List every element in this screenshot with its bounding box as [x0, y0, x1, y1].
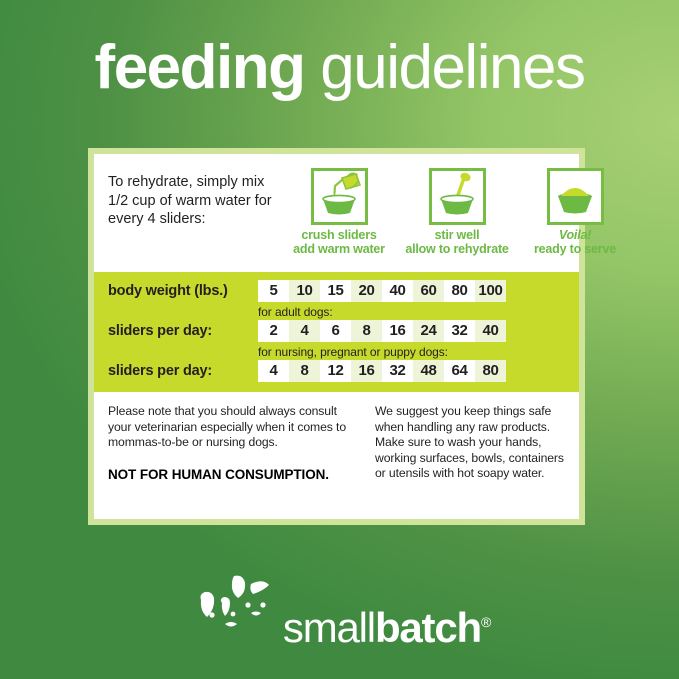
step-stir-well: stir well allow to rehydrate [398, 168, 516, 256]
cell: 40 [382, 280, 413, 302]
table-row: sliders per day: 4 8 12 16 32 48 64 80 [94, 360, 579, 382]
cell: 64 [444, 360, 475, 382]
rehydrate-steps: crush sliders add warm water [276, 168, 634, 256]
note-safety-text: We suggest you keep things safe when han… [375, 404, 565, 482]
step-2-caption-line2: allow to rehydrate [405, 242, 508, 256]
cell: 16 [382, 320, 413, 342]
rehydrate-instruction: To rehydrate, simply mix 1/2 cup of warm… [108, 168, 276, 229]
rehydrate-section: To rehydrate, simply mix 1/2 cup of warm… [94, 154, 579, 272]
cell: 4 [258, 360, 289, 382]
cell: 6 [320, 320, 351, 342]
step-1-caption: crush sliders add warm water [280, 229, 398, 256]
guidelines-card-inner: To rehydrate, simply mix 1/2 cup of warm… [94, 154, 579, 519]
feeding-table: body weight (lbs.) 5 10 15 20 40 60 80 1… [94, 272, 579, 392]
cell: 40 [475, 320, 506, 342]
step-crush-sliders: crush sliders add warm water [280, 168, 398, 256]
cell: 80 [475, 360, 506, 382]
smallbatch-animal-faces-logo-mark [189, 572, 281, 647]
table-row: body weight (lbs.) 5 10 15 20 40 60 80 1… [94, 280, 579, 302]
cell: 5 [258, 280, 289, 302]
page-title: feeding guidelines [0, 37, 679, 99]
note-right-column: We suggest you keep things safe when han… [375, 404, 565, 511]
logo-wordmark: smallbatch® [283, 601, 490, 649]
notes-section: Please note that you should always consu… [94, 392, 579, 519]
cell: 8 [351, 320, 382, 342]
step-2-caption: stir well allow to rehydrate [398, 229, 516, 256]
row-cells-sliders-nursing: 4 8 12 16 32 48 64 80 [258, 360, 506, 382]
cell: 32 [382, 360, 413, 382]
note-veterinarian-text: Please note that you should always consu… [108, 404, 363, 451]
registered-trademark-icon: ® [481, 614, 490, 630]
sub-label-nursing-dogs: for nursing, pregnant or puppy dogs: [94, 342, 579, 360]
cell: 12 [320, 360, 351, 382]
cell: 10 [289, 280, 320, 302]
table-row: sliders per day: 2 4 6 8 16 24 32 40 [94, 320, 579, 342]
step-1-icon-box [311, 168, 368, 225]
cell: 4 [289, 320, 320, 342]
step-3-caption-line2: ready to serve [534, 242, 616, 256]
row-cells-body-weight: 5 10 15 20 40 60 80 100 [258, 280, 506, 302]
cell: 48 [413, 360, 444, 382]
cell: 60 [413, 280, 444, 302]
page-title-light: guidelines [320, 33, 584, 102]
cell: 32 [444, 320, 475, 342]
spoon-in-bowl-icon [434, 172, 480, 221]
logo-text-small: small [283, 604, 375, 651]
full-food-bowl-icon [552, 172, 598, 221]
row-label-sliders-nursing: sliders per day: [108, 363, 258, 379]
step-3-caption: Voila! ready to serve [516, 229, 634, 256]
logo-text-batch: batch [375, 604, 481, 651]
step-ready-to-serve: Voila! ready to serve [516, 168, 634, 256]
guidelines-card: To rehydrate, simply mix 1/2 cup of warm… [88, 148, 585, 525]
cell: 80 [444, 280, 475, 302]
not-for-human-consumption-warning: NOT FOR HUMAN CONSUMPTION. [108, 467, 363, 483]
cell: 2 [258, 320, 289, 342]
cell: 16 [351, 360, 382, 382]
cell: 100 [475, 280, 506, 302]
cell: 15 [320, 280, 351, 302]
cell: 24 [413, 320, 444, 342]
step-1-caption-line1: crush sliders [301, 228, 376, 242]
step-2-caption-line1: stir well [435, 228, 480, 242]
cell: 20 [351, 280, 382, 302]
brand-logo: smallbatch® [0, 572, 679, 649]
step-3-icon-box [547, 168, 604, 225]
watering-can-pouring-into-bowl-icon [316, 172, 362, 221]
step-3-caption-line1: Voila! [559, 228, 591, 242]
step-1-caption-line2: add warm water [293, 242, 385, 256]
row-cells-sliders-adult: 2 4 6 8 16 24 32 40 [258, 320, 506, 342]
cell: 8 [289, 360, 320, 382]
sub-label-adult-dogs: for adult dogs: [94, 302, 579, 320]
page-title-bold: feeding [95, 33, 305, 102]
step-2-icon-box [429, 168, 486, 225]
row-label-sliders-adult: sliders per day: [108, 323, 258, 339]
note-left-column: Please note that you should always consu… [108, 404, 375, 511]
feeding-guidelines-page: feeding guidelines To rehydrate, simply … [0, 0, 679, 679]
row-label-body-weight: body weight (lbs.) [108, 283, 258, 299]
